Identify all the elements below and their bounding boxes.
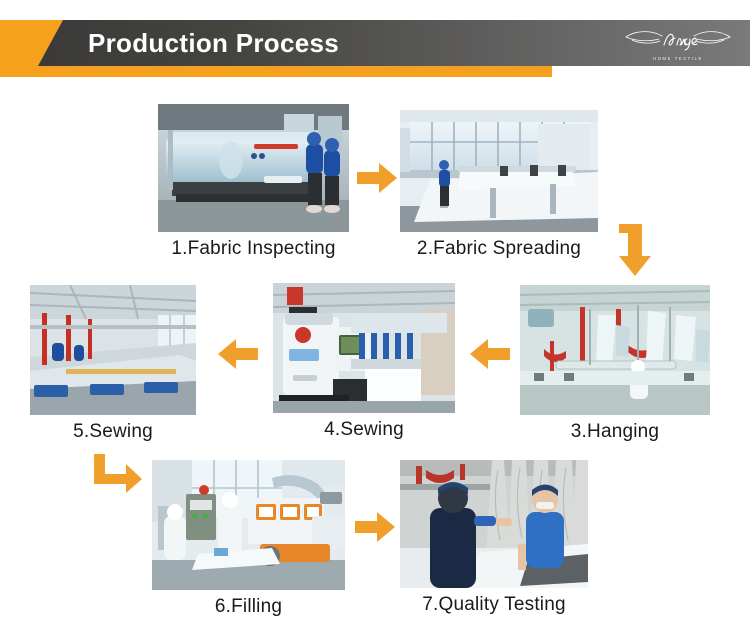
step-4-caption: 4.Sewing xyxy=(273,419,455,441)
production-process-infographic: Production Process HOME TEXT xyxy=(0,0,750,634)
photo-sewing-line xyxy=(30,285,196,415)
photo-fabric-inspecting xyxy=(158,104,349,232)
angel-wings-logo-icon xyxy=(622,25,734,55)
step-5-sewing: 5.Sewing xyxy=(30,285,196,443)
brand-logo: HOME TEXTILE xyxy=(620,22,736,64)
step-2-caption: 2.Fabric Spreading xyxy=(400,238,598,260)
photo-filling-art xyxy=(152,460,345,590)
arrow-down-then-right-icon xyxy=(92,452,144,494)
step-1-caption: 1.Fabric Inspecting xyxy=(158,238,349,260)
arrow-right-icon xyxy=(357,163,397,193)
step-1-fabric-inspecting: 1.Fabric Inspecting xyxy=(158,104,349,260)
page-title: Production Process xyxy=(88,20,339,66)
step-7-caption: 7.Quality Testing xyxy=(400,594,588,616)
arrow-left-icon xyxy=(470,339,510,369)
step-2-fabric-spreading: 2.Fabric Spreading xyxy=(400,110,598,260)
arrow-right-icon xyxy=(355,512,395,542)
photo-fabric-spreading xyxy=(400,110,598,232)
photo-sewing-machine xyxy=(273,283,455,413)
page-header: Production Process HOME TEXT xyxy=(0,0,750,90)
photo-sewing-line-art xyxy=(30,285,196,415)
photo-quality-testing xyxy=(400,460,588,588)
arrow-step1-to-step2 xyxy=(357,163,397,193)
photo-hanging-art xyxy=(520,285,710,415)
arrow-step2-to-step3 xyxy=(617,222,657,278)
photo-sewing-machine-art xyxy=(273,283,455,413)
photo-filling xyxy=(152,460,345,590)
arrow-left-icon xyxy=(218,339,258,369)
step-5-caption: 5.Sewing xyxy=(30,421,196,443)
photo-quality-testing-art xyxy=(400,460,588,588)
step-6-caption: 6.Filling xyxy=(152,596,345,618)
step-6-filling: 6.Filling xyxy=(152,460,345,618)
header-orange-underbar xyxy=(0,66,552,77)
brand-subtitle: HOME TEXTILE xyxy=(653,56,703,61)
step-7-quality-testing: 7.Quality Testing xyxy=(400,460,588,616)
photo-fabric-spreading-art xyxy=(400,110,598,232)
arrow-step4-to-step5 xyxy=(218,339,258,369)
arrow-right-then-down-icon xyxy=(617,222,657,278)
arrow-step5-to-step6 xyxy=(92,452,144,494)
arrow-step3-to-step4 xyxy=(470,339,510,369)
step-3-hanging: 3.Hanging xyxy=(520,285,710,443)
step-4-sewing: 4.Sewing xyxy=(273,283,455,441)
photo-fabric-inspecting-art xyxy=(158,104,349,232)
arrow-step6-to-step7 xyxy=(355,512,395,542)
step-3-caption: 3.Hanging xyxy=(520,421,710,443)
photo-hanging xyxy=(520,285,710,415)
